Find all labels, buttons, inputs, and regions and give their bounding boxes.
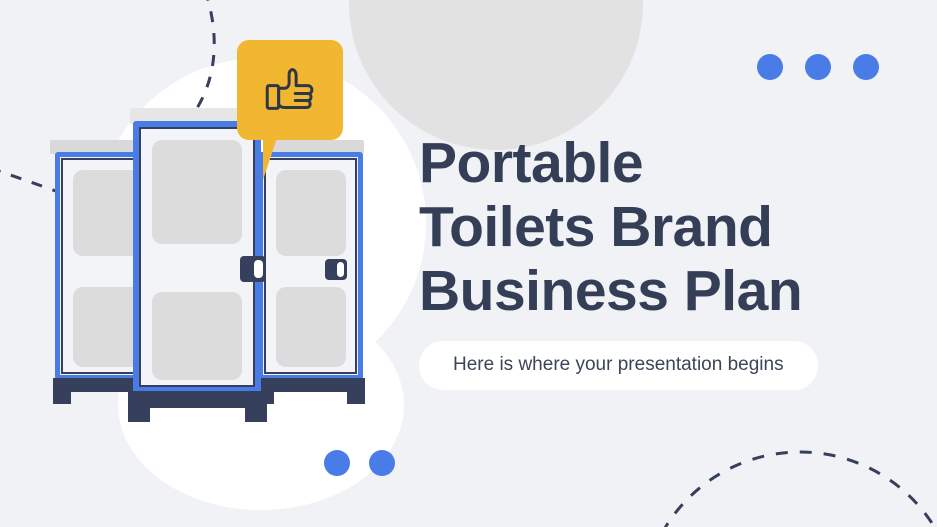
- center-toilet-foot-right: [245, 408, 267, 422]
- left-toilet-foot-left: [53, 392, 71, 404]
- right-toilet-base: [256, 378, 365, 392]
- portable-toilets-illustration: [0, 0, 420, 440]
- decorative-dot: [369, 450, 395, 476]
- right-toilet-upper-panel: [276, 170, 346, 256]
- decorative-dot: [324, 450, 350, 476]
- decorative-dot: [853, 54, 879, 80]
- center-toilet-handle-bar: [254, 260, 263, 278]
- center-toilet-foot-left: [128, 408, 150, 422]
- right-toilet-foot-right: [347, 392, 365, 404]
- presentation-slide: Portable Toilets Brand Business Plan Her…: [0, 0, 937, 527]
- title-line: Portable: [419, 131, 643, 195]
- title-line: Business Plan: [419, 259, 802, 323]
- subtitle-text: Here is where your presentation begins: [453, 354, 784, 375]
- title-line: Toilets Brand: [419, 195, 772, 259]
- thumbs-up-icon: [262, 62, 318, 118]
- title-block: Portable Toilets Brand Business Plan Her…: [419, 131, 889, 390]
- center-toilet-base: [128, 391, 267, 408]
- decorative-dot: [805, 54, 831, 80]
- center-toilet-upper-panel: [152, 140, 242, 244]
- speech-bubble-tail: [263, 138, 277, 180]
- right-toilet-handle-bar: [337, 262, 344, 277]
- center-toilet-lower-panel: [152, 292, 242, 380]
- decorative-dot: [757, 54, 783, 80]
- page-title: Portable Toilets Brand Business Plan: [419, 131, 889, 323]
- subtitle-pill: Here is where your presentation begins: [419, 341, 818, 390]
- right-toilet-lower-panel: [276, 287, 346, 367]
